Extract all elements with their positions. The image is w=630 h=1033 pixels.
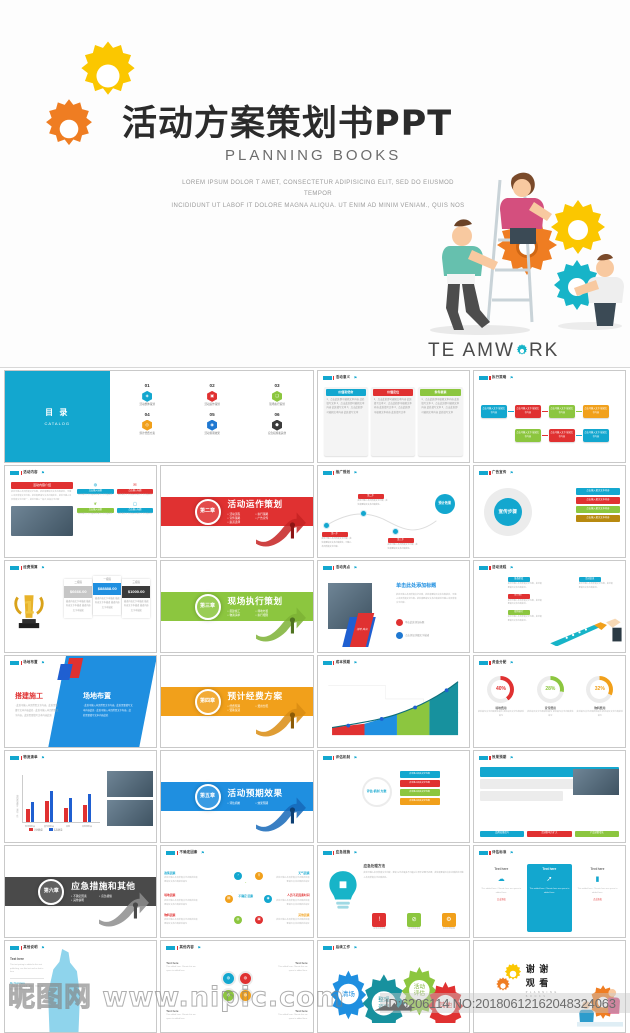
chapter-bullet: 效果预期 — [256, 802, 284, 806]
header-bar-red — [489, 756, 490, 760]
gear-icon-orange — [38, 98, 100, 160]
eval-card-featured[interactable]: Text here ➚ This added here. Climate her… — [527, 864, 572, 932]
chapter-bullets: 活动流程 执行策略 宣传策略 广告宣传 渠道选择 — [228, 513, 284, 525]
slide-photo-top — [107, 771, 153, 797]
thumbnail-slide-chapter-3[interactable]: 第三章 现场执行策划 搭建施工 场地布置 物资清单 执行细则 — [160, 560, 313, 653]
eval-card-title: Text here — [527, 867, 572, 872]
thanks-line-1: 谢 谢 — [526, 963, 557, 977]
eval-box[interactable]: 点击输入相关文字内容 — [400, 780, 440, 787]
teamwork-wordmark: TE AMWRK — [428, 340, 559, 362]
bullet-label: 单击此处添加标题 — [405, 621, 424, 625]
bookmark-icon: ⚑ — [510, 565, 514, 571]
star-label-body: 此处可输入本页所需文字内容此处需要填写文本内容此处填写 — [276, 877, 309, 883]
slide-thumbnail-grid: 目 录 CATALOG 01 ◈ 活动整体策划 02 ▣ 活动运作策划 03 ❏… — [0, 368, 630, 1033]
flow-list-caption: 活动结束 — [579, 577, 601, 582]
header-bar-red — [333, 661, 334, 665]
flow-box[interactable]: 点击可输入文字 描述文字内容 — [583, 429, 609, 442]
bookmark-icon: ⚑ — [354, 375, 358, 381]
thumbnail-slide-catalog[interactable]: 目 录 CATALOG 01 ◈ 活动整体策划 02 ▣ 活动运作策划 03 ❏… — [4, 370, 314, 463]
donut-sublabel: 此处填写文字内容此处填写 此处填写文字内容此处填写 — [577, 711, 623, 719]
timeline-caption: 第二步 — [358, 494, 384, 499]
header-bar-blue — [323, 566, 332, 570]
header-bar-red — [21, 661, 22, 665]
timeline-dot[interactable] — [392, 528, 399, 535]
thumbnail-slide-activity-flow[interactable]: 活动流程 ⚑ 准备阶段 此处可输入本页所需文字内容，此处需要填写文本内容此处。 … — [473, 560, 626, 653]
chapter-bullet: 其他说明 — [71, 899, 99, 903]
cube-icon: ◈ — [142, 391, 152, 402]
chapter-number-circle: 第二章 — [195, 499, 221, 525]
construction-title-left: 搭建施工 — [15, 692, 43, 703]
eval-box[interactable]: 点击输入相关文字内容 — [400, 798, 440, 805]
catalog-item-number: 02 — [181, 383, 244, 390]
emergency-title: 应急处理方法 — [364, 864, 465, 869]
header-bar-blue — [323, 756, 332, 760]
bar-list-item[interactable]: 点击输入相关文本内容 — [576, 488, 620, 495]
chapter-bullets: 不确定因素 应急措施 其他说明 — [71, 895, 127, 903]
slide-header-title: 后续工作 — [336, 945, 350, 950]
eval-card-row: Text here ☁ This added here. Climate her… — [479, 864, 620, 932]
flow-box[interactable]: 点击可输入文字 描述文字内容 — [549, 405, 575, 418]
slide-header: 资金分配 ⚑ — [479, 660, 514, 666]
header-bar-red — [333, 471, 334, 475]
header-bar-blue — [323, 471, 332, 475]
flow-arrow — [576, 435, 582, 436]
circle-body: This added here. Climate this me space t… — [166, 1014, 195, 1020]
slide-bullet[interactable]: 点击添加详细文字描述 — [396, 632, 429, 639]
slide-header: 经费预算 ⚑ — [10, 565, 45, 571]
card-body: 1、点击此处即可编辑文本内容 此处填写文本 2、点击此处即可编辑文本内容 此处填… — [326, 398, 366, 414]
slide-header-title: 评估机制 — [336, 755, 350, 760]
catalog-item-label: 活动整体策划 — [116, 403, 179, 407]
circular-steps-center: 宣传步骤 — [494, 498, 522, 526]
effect-bar-3 — [480, 791, 564, 801]
leaf-icon: ❏ — [272, 391, 282, 402]
bar-planned — [83, 805, 87, 822]
card-caption: 价值定位 — [373, 389, 413, 396]
chapter-divider: 第四章 预计经费方案 经费预算 费用分配 赞助渠道 — [161, 656, 312, 747]
eval-card[interactable]: Text here ▮ This added here. Climate her… — [575, 864, 620, 932]
slide-header: 应急措施 ⚑ — [323, 850, 358, 856]
slide-header: 评估机制 ⚑ — [323, 755, 358, 761]
slide-header: 活动亮点 ⚑ — [323, 565, 358, 571]
bookmark-icon: ⚑ — [354, 470, 358, 476]
slide-header: 后续工作 ⚑ — [323, 945, 358, 951]
clock-icon[interactable]: ◔ — [234, 872, 242, 880]
star-center-label: 不确定 因素 — [238, 895, 253, 899]
trophy-illustration: 1 — [12, 587, 46, 633]
catalog-item-label: 预计经费方案 — [116, 432, 179, 436]
cloud-icon: ☁ — [479, 875, 524, 886]
chart-x-axis — [22, 822, 100, 823]
bullet-dot-blue — [396, 632, 403, 639]
timeline-dot[interactable] — [360, 510, 367, 517]
chapter-number: 第四章 — [200, 698, 215, 706]
bar-planned — [64, 808, 68, 822]
price-body: 描述内容文字本描述 描述内容文字本描述 描述内容文字本描述 — [64, 598, 92, 615]
thumbnail-slide-ad-promotion[interactable]: 广告宣传 ⚑ 宣传步骤 点击输入相关文本内容 点击输入相关文本内容 点击输入相关… — [473, 465, 626, 558]
thumbnail-slide-eval-standard[interactable]: 评估标准 ⚑ Text here ☁ This added here. Clim… — [473, 845, 626, 938]
thumbnail-slide-promotion-plan[interactable]: 推广规划 ⚑ 第一步 此处可输入本页所需文字内容，此处需要填写文本内容此处，可输… — [317, 465, 470, 558]
slide-header: 不确定因素 ⚑ — [166, 850, 204, 856]
bookmark-icon: ⚑ — [41, 945, 45, 951]
price-column-featured[interactable]: 一级版 $88888.00 描述内容文字本描述 描述内容文字本描述 描述内容文字… — [93, 576, 121, 615]
slide-header-title: 效果预期 — [492, 755, 506, 760]
pin-icon[interactable]: ⚲ — [255, 872, 263, 880]
flow-list-body: 此处可输入本页所需文字内容，此处需要填写文本内容此处。 — [508, 616, 542, 624]
flow-list-body: 此处可输入本页所需文字内容，此处需要填写文本内容此处。 — [579, 583, 613, 591]
star-label-body: 此处可输入本页所需文字内容此处需要填写文本内容此处填写 — [164, 877, 197, 883]
slide-header: 效果预期 ⚑ — [479, 755, 514, 761]
star-center: 不确定 因素 — [231, 882, 261, 912]
bar-list-item[interactable]: 点击输入相关文本内容 — [576, 506, 620, 513]
chapter-text: 现场执行策划 搭建施工 场地布置 物资清单 执行细则 — [228, 595, 284, 618]
donut-chart: 28% 宣传费用 此处填写文字内容此处填写 此处填写文字内容此处填写 — [527, 676, 573, 719]
price-tier: 三级版 — [122, 579, 150, 586]
slide-header: 其他说明 ⚑ — [10, 945, 45, 951]
emergency-icon-card[interactable]: ⊘ 应急预案措施 — [398, 913, 430, 931]
slide-header-title: 其他内容 — [180, 945, 194, 950]
star-label-right-2: 人员不足因素时间 此处可输入本页所需文字内容此处需要填写文本内容此处填写 — [276, 893, 310, 907]
user-icon[interactable]: ◍ — [234, 916, 242, 924]
bar-list: 点击输入相关文本内容 点击输入相关文本内容 点击输入相关文本内容 点击输入相关文… — [576, 488, 620, 522]
star-label-title: 天气因素 — [276, 871, 310, 876]
chapter-divider: 第二章 活动运作策划 活动流程 执行策略 宣传策略 广告宣传 渠道选择 — [161, 466, 312, 557]
eval-box[interactable]: 点击输入相关文字内容 — [400, 771, 440, 778]
bookmark-icon: ⚑ — [510, 755, 514, 761]
chapter-title: 活动运作策划 — [228, 498, 284, 511]
slide-header-title: 不确定因素 — [180, 850, 198, 855]
header-bar-blue — [10, 471, 19, 475]
globe-icon[interactable]: ◉ — [264, 895, 272, 903]
header-bar-blue — [323, 661, 332, 665]
donut-label: 宣传费用 — [527, 706, 573, 710]
flow-list-caption: 宣传推广 — [508, 594, 530, 599]
flow-list-right: 活动结束 此处可输入本页所需文字内容，此处需要填写文本内容此处。 — [579, 577, 613, 594]
donut-percent: 40% — [496, 686, 506, 694]
chapter-bullet: 应急措施 — [99, 895, 127, 899]
thumbnail-slide-activity-meaning[interactable]: 活动意义 ⚑ 价值和使命 1、点击此处即可编辑文本内容 此处填写文本 2、点击此… — [317, 370, 470, 463]
timeline-dot[interactable] — [323, 522, 330, 529]
thumbnail-slide-uncertain-factors[interactable]: 不确定因素 ⚑ 不确定 因素 ◔ ⚲ ▤ ◉ ◍ ▣ 政策因素 此处可输入本页所… — [160, 845, 313, 938]
thumbnail-slide-emergency[interactable]: 应急措施 ⚑ 应急处理方法 此处可输入本页所需文字内容，建议70字内最多不可超过… — [317, 845, 470, 938]
flow-box[interactable]: 点击可输入文字 描述文字内容 — [515, 429, 541, 442]
bar-list-item[interactable]: 点击输入相关文本内容 — [576, 515, 620, 522]
chapter-text: 预计经费方案 经费预算 费用分配 赞助渠道 — [228, 690, 284, 713]
chapter-text: 活动运作策划 活动流程 执行策略 宣传策略 广告宣传 渠道选择 — [228, 498, 284, 525]
teamwork-label-post: RK — [529, 340, 559, 361]
flow-arrow — [542, 435, 548, 436]
content-photo — [11, 506, 73, 536]
eval-box-list: 点击输入相关文字内容 点击输入相关文字内容 点击输入相关文字内容 点击输入相关文… — [400, 771, 440, 805]
emergency-icon-label: 应急处理措施 — [433, 928, 465, 931]
emergency-icon-card[interactable]: ! 应急处理措施 — [364, 913, 396, 931]
user-icon: ◍ — [77, 482, 114, 488]
chapter-text: 应急措施和其他 不确定因素 应急措施 其他说明 — [71, 880, 135, 903]
chart-legend: 计划数量 实际数量 — [29, 828, 63, 833]
eval-card[interactable]: Text here ☁ This added here. Climate her… — [479, 864, 524, 932]
bookmark-icon: ⚑ — [197, 945, 201, 951]
timeline-body: 此处可输入本页所需文字内容，此处需要填写文本内容此处，可输入本页所需文字内容。 — [322, 538, 352, 549]
chapter-title: 应急措施和其他 — [71, 880, 135, 893]
slide-header: 成本预期 ⚑ — [323, 660, 358, 666]
teamwork-illustration — [400, 140, 630, 340]
chapter-divider: 第三章 现场执行策划 搭建施工 场地布置 物资清单 执行细则 — [161, 561, 312, 652]
thumbnail-slide-funding[interactable]: 经费预算 ⚑ 1 二级版 $6666.00 描述内容文字本描述 描述内容文字本描… — [4, 560, 157, 653]
coin-icon: ◎ — [142, 420, 152, 431]
bookmark-icon: ⚑ — [41, 565, 45, 571]
donut-ring: 28% — [537, 676, 564, 703]
bar-planned — [26, 809, 30, 822]
header-bar-blue — [479, 566, 488, 570]
slide-header-title: 其他说明 — [23, 945, 37, 950]
emergency-icon-card[interactable]: ⚙ 应急处理措施 — [433, 913, 465, 931]
thumbnail-slide-chapter-5[interactable]: 第五章 活动预期效果 评估机制 效果预期 — [160, 750, 313, 843]
header-bar-red — [21, 566, 22, 570]
donut-center: 32% — [590, 680, 609, 699]
bar-list-item[interactable]: 点击输入相关文本内容 — [576, 497, 620, 504]
emergency-body: 此处可输入本页所需文字内容，建议70字内最多不可超过上限不必删不必要，此处需要填… — [364, 871, 465, 879]
thumbnail-slide-eval-mechanism[interactable]: 评估机制 ⚑ 评估 机制 方案 点击输入相关文字内容 点击输入相关文字内容 点击… — [317, 750, 470, 843]
eval-box[interactable]: 点击输入相关文字内容 — [400, 789, 440, 796]
header-bar-blue — [10, 661, 19, 665]
price-column[interactable]: 三级版 $1000.00 描述内容文字本描述 描述内容文字本描述 描述内容文字本… — [122, 579, 150, 618]
content-item[interactable]: ◍ 点击输入标题 此处填写文字内容此处填写文字内容此处 — [77, 482, 114, 498]
donut-chart: 32% 物料费用 此处填写文字内容此处填写 此处填写文字内容此处填写 — [577, 676, 623, 719]
bar-planned — [45, 801, 49, 822]
chapter-number: 第六章 — [44, 888, 59, 896]
donut-percent: 32% — [595, 686, 605, 694]
header-bar-blue — [479, 471, 488, 475]
circle-text-left-top: Text here This added here. Climate this … — [166, 961, 198, 974]
eval-card-more[interactable]: 点击添加 — [479, 899, 524, 902]
chapter-bullets: 评估机制 效果预期 — [228, 802, 284, 806]
eval-card-body: This added here. Climate here me space t… — [527, 888, 572, 896]
chapter-number-circle: 第三章 — [195, 594, 221, 620]
thumbnail-slide-chapter-6[interactable]: 第六章 应急措施和其他 不确定因素 应急措施 其他说明 — [4, 845, 157, 938]
slide-header: 活动流程 ⚑ — [479, 565, 514, 571]
chapter-title: 预计经费方案 — [228, 690, 284, 703]
rocket-icon: ➚ — [527, 875, 572, 886]
circle-body: This added here. Climate this me space t… — [278, 966, 307, 972]
star-diagram: 不确定 因素 ◔ ⚲ ▤ ◉ ◍ ▣ 政策因素 此处可输入本页所需文字内容此处需… — [161, 862, 312, 933]
materials-bar-chart: 物料数量统计（单位：件） 现场物料品 宣传物料品 其他 其他物料品 — [13, 771, 101, 833]
star-label-right-3: 其他因素 此处可输入本页所需文字内容此处需要填写文本内容此处填写 — [276, 913, 310, 927]
chat-icon: ▣ — [207, 391, 217, 402]
bookmark-icon: ⚑ — [510, 470, 514, 476]
timeline-body: 此处可输入本页所需文字内容，此处需要填写文本内容此处。 — [358, 500, 388, 508]
catalog-item-number: 01 — [116, 383, 179, 390]
thumbnail-slide-expected-effect[interactable]: 效果预期 ⚑ 品牌效果提升 活动影响力扩大 产品销量增长 — [473, 750, 626, 843]
slide-header: 场地布置 ⚑ — [10, 660, 45, 666]
flow-diagram: 点击可输入文字 描述文字内容 点击可输入文字 描述文字内容 点击可输入文字 描述… — [479, 389, 620, 456]
star-label-left-2: 场地因素 此处可输入本页所需文字内容此处需要填写文本内容此处填写 — [164, 893, 198, 907]
header-bar-red — [21, 946, 22, 950]
flow-arrow — [508, 411, 514, 412]
flow-box[interactable]: 点击可输入文字 描述文字内容 — [515, 405, 541, 418]
donut-chart-row: 40% 场地费用 此处填写文字内容此处填写 此处填写文字内容此处填写 28% 宣… — [478, 676, 623, 719]
header-bar-red — [333, 756, 334, 760]
catalog-item[interactable]: 05 ◉ 活动预期效果 — [181, 412, 244, 436]
slide-header: 评估标准 ⚑ — [479, 850, 514, 856]
thumbnail-slide-thanks[interactable]: 谢 谢 观 看 P L A N N I N G B O O K S — [473, 940, 626, 1033]
thumbnail-slide-execution-flow[interactable]: 执行策略 ⚑ 点击可输入文字 描述文字内容 点击可输入文字 描述文字内容 点击可… — [473, 370, 626, 463]
construction-title-right: 场地布置 — [83, 692, 111, 703]
catalog-item[interactable]: 03 ❏ 现场执行策划 — [246, 383, 309, 407]
thumbnail-slide-add-title[interactable]: 活动亮点 ⚑ 活动 亮点 单击此处添加标题 此处可输入本页所需文字内容，此处需要… — [317, 560, 470, 653]
star-label-left-3: 物料因素 此处可输入本页所需文字内容此处需要填写文本内容此处填写 — [164, 913, 198, 927]
price-column[interactable]: 二级版 $6666.00 描述内容文字本描述 描述内容文字本描述 描述内容文字本… — [64, 579, 92, 618]
watermark-nipic: 昵图网 www.nipic.com — [8, 975, 345, 1014]
chapter-bullet: 广告宣传 — [256, 517, 284, 521]
chapter-title: 活动预期效果 — [228, 787, 284, 800]
construction-body-right: · 此处可输入本页所需文字内容，此处需要填写文本内容此处 · 此处可输入本页所需… — [83, 704, 133, 718]
star-label-title: 人员不足因素时间 — [276, 893, 310, 898]
content-card[interactable]: 价值和使命 1、点击此处即可编辑文本内容 此处填写文本 2、点击此处即可编辑文本… — [324, 387, 368, 456]
bar-group — [26, 802, 34, 822]
chat-icon[interactable]: ▣ — [255, 916, 263, 924]
chapter-divider: 第六章 应急措施和其他 不确定因素 应急措施 其他说明 — [5, 846, 156, 937]
catalog-item-label: 应急措施和其他 — [246, 432, 309, 436]
content-item[interactable]: ✉ 点击输入标题 此处填写文字内容此处填写文字内容此处 — [117, 482, 154, 498]
flow-list: 准备阶段 此处可输入本页所需文字内容，此处需要填写文本内容此处。 宣传推广 此处… — [508, 577, 542, 627]
donut-percent: 28% — [545, 686, 555, 694]
alert-icon: ! — [372, 913, 386, 927]
doc-icon[interactable]: ▤ — [225, 895, 233, 903]
price-value: $6666.00 — [64, 586, 92, 598]
thumbnail-slide-materials[interactable]: 物流清单 ⚑ 物料数量统计（单位：件） 现场物料品 宣传物料品 其他 — [4, 750, 157, 843]
chart-y-axis — [22, 775, 23, 823]
bar-group — [45, 791, 53, 822]
catalog-item[interactable]: 02 ▣ 活动运作策划 — [181, 383, 244, 407]
thumbnail-slide-chapter-2[interactable]: 第二章 活动运作策划 活动流程 执行策略 宣传策略 广告宣传 渠道选择 — [160, 465, 313, 558]
catalog-item[interactable]: 04 ◎ 预计经费方案 — [116, 412, 179, 436]
thumbnail-slide-distribution[interactable]: 资金分配 ⚑ 40% 场地费用 此处填写文字内容此处填写 此处填写文字内容此处填… — [473, 655, 626, 748]
teamwork-label-pre: TE AMW — [428, 340, 515, 361]
pen-illustration — [547, 614, 623, 646]
effect-card-caption: 活动影响力扩大 — [527, 831, 571, 837]
flow-box[interactable]: 点击可输入文字 描述文字内容 — [481, 405, 507, 418]
effect-card[interactable]: 产品销量增长 — [575, 831, 619, 837]
catalog-items: 01 ◈ 活动整体策划 02 ▣ 活动运作策划 03 ❏ 现场执行策划 04 ◎… — [116, 383, 309, 436]
price-tier: 二级版 — [64, 579, 92, 586]
slide-header-title: 活动亮点 — [336, 565, 350, 570]
bookmark-icon: ⚑ — [354, 660, 358, 666]
content-item-body: 此处填写文字内容此处填写文字内容此处 — [117, 494, 154, 497]
catalog-item[interactable]: 01 ◈ 活动整体策划 — [116, 383, 179, 407]
slide-header-title: 成本预期 — [336, 660, 350, 665]
flow-box[interactable]: 点击可输入文字 描述文字内容 — [549, 429, 575, 442]
content-card[interactable]: 价值定位 1、点击此处即可编辑文本内容 此处填写文本 2、点击此处即可编辑文本内… — [371, 387, 415, 456]
target-icon: ◉ — [207, 420, 217, 431]
growth-chart-svg — [324, 676, 463, 739]
bar-actual — [50, 791, 54, 822]
thumbnail-slide-chapter-4[interactable]: 第四章 预计经费方案 经费预算 费用分配 赞助渠道 — [160, 655, 313, 748]
header-bar-blue — [479, 661, 488, 665]
slide-header: 活动意义 ⚑ — [323, 375, 358, 381]
flow-box[interactable]: 点击可输入文字 描述文字内容 — [583, 405, 609, 418]
header-bar-blue — [479, 756, 488, 760]
donut-label: 物料费用 — [577, 706, 623, 710]
donut-sublabel: 此处填写文字内容此处填写 此处填写文字内容此处填写 — [527, 711, 573, 719]
thumbnail-slide-construction[interactable]: 场地布置 ⚑ 搭建施工 · 此处可输入本页所需文字内容，此处需要填写文本内容此处… — [4, 655, 157, 748]
page-subtitle: PLANNING BOOKS — [225, 147, 401, 164]
slide-body: 此处可输入本页所需文字内容，此处需要填写文本内容此处，可输入本页所需文字内容。此… — [396, 593, 458, 606]
chapter-bullet: 赞助渠道 — [228, 709, 256, 713]
catalog-item[interactable]: 06 ⬟ 应急措施和其他 — [246, 412, 309, 436]
bullet-dot-red — [396, 619, 403, 626]
eval-card-body: This added here. Climate here me space t… — [479, 888, 524, 896]
slide-header-title: 经费预算 — [23, 565, 37, 570]
thumbnail-slide-growth[interactable]: 成本预期 ⚑ — [317, 655, 470, 748]
card-row: 价值和使命 1、点击此处即可编辑文本内容 此处填写文本 2、点击此处即可编辑文本… — [324, 387, 463, 456]
timeline-diagram: 第一步 此处可输入本页所需文字内容，此处需要填写文本内容此处，可输入本页所需文字… — [318, 484, 469, 553]
star-label-body: 此处可输入本页所需文字内容此处需要填写文本内容此处填写 — [276, 919, 309, 925]
price-value: $88888.00 — [93, 583, 121, 595]
chapter-divider: 第五章 活动预期效果 评估机制 效果预期 — [161, 751, 312, 842]
bookmark-icon: ⚑ — [510, 850, 514, 856]
circle-body: This added here. Climate this me space t… — [166, 966, 195, 972]
price-body: 描述内容文字本描述 描述内容文字本描述 描述内容文字本描述 — [93, 595, 121, 612]
svg-text:活动: 活动 — [413, 982, 425, 990]
header-bar-red — [489, 376, 490, 380]
eval-card-more[interactable]: 点击添加 — [575, 899, 620, 902]
bookmark-icon: ⚑ — [510, 660, 514, 666]
header-bar-blue — [10, 946, 19, 950]
circle-body: This added here. Climate this me space t… — [278, 1014, 307, 1020]
chapter-bullet: 费用分配 — [256, 705, 284, 709]
bar-group — [64, 798, 72, 822]
watermark-id-text: ID:6206114 NO:20180612162048324063 — [385, 996, 616, 1011]
header-bar-blue — [323, 946, 332, 950]
effect-card[interactable]: 品牌效果提升 — [480, 831, 524, 837]
content-body: 此处可输入本页所需文字内容，此处需要填写文本内容此处，可输入本页所需文字内容。此… — [11, 491, 73, 503]
slide-header: 其他内容 ⚑ — [166, 945, 201, 951]
slide-header: 物流清单 ⚑ — [10, 755, 45, 761]
effect-card-caption: 品牌效果提升 — [480, 831, 524, 837]
hero-cover-slide: 活动方案策划书PPT PLANNING BOOKS LOREM IPSUM DO… — [0, 0, 630, 368]
timeline-body: 此处可输入本页所需文字内容，此处需要填写文本内容此处。 — [388, 544, 418, 552]
bookmark-icon: ⚑ — [354, 565, 358, 571]
donut-sublabel: 此处填写文字内容此处填写 此处填写文字内容此处填写 — [478, 711, 524, 719]
star-label-left-1: 政策因素 此处可输入本页所需文字内容此处需要填写文本内容此处填写 — [164, 871, 198, 885]
svg-text:1: 1 — [23, 598, 35, 618]
slide-header-title: 活动意义 — [336, 375, 350, 380]
flow-arrow — [542, 411, 548, 412]
header-bar-blue — [166, 851, 175, 855]
content-item[interactable]: ◯ 点击输入标题 此处填写文字内容此处填写文字内容此处 — [117, 501, 154, 517]
page-title: 活动方案策划书PPT — [122, 95, 452, 146]
chapter-number-circle: 第六章 — [38, 879, 64, 905]
flow-list-body: 此处可输入本页所需文字内容，此处需要填写文本内容此处。 — [508, 583, 542, 591]
bar-actual — [31, 802, 35, 822]
slide-bullet[interactable]: 单击此处添加标题 — [396, 619, 424, 626]
content-item[interactable]: ❦ 点击输入标题 此处填写文字内容此处填写文字内容此处 — [77, 501, 114, 517]
content-item-body: 此处填写文字内容此处填写文字内容此处 — [117, 513, 154, 516]
content-card[interactable]: 条件要素 1、点击此处即可编辑文本内容 此处填写文本 2、点击此处即可编辑文本内… — [418, 387, 462, 456]
chapter-bullets: 搭建施工 场地布置 物资清单 执行细则 — [228, 610, 284, 618]
bookmark-icon: ⚑ — [354, 755, 358, 761]
effect-card[interactable]: 活动影响力扩大 — [527, 831, 571, 837]
slide-photo — [573, 769, 619, 795]
thumbnail-slide-activity-content[interactable]: 活动内容 ⚑ 活动内容介绍 此处可输入本页所需文字内容，此处需要填写文本内容此处… — [4, 465, 157, 558]
catalog-item-number: 04 — [116, 412, 179, 419]
chapter-number-circle: 第五章 — [195, 784, 221, 810]
emergency-icon-row: ! 应急处理措施 ⊘ 应急预案措施 ⚙ 应急处理措施 — [364, 913, 465, 931]
catalog-title-en: CATALOG — [45, 421, 71, 427]
slide-header: 活动内容 ⚑ — [10, 470, 45, 476]
header-bar-blue — [166, 946, 175, 950]
effect-card-row: 品牌效果提升 活动影响力扩大 产品销量增长 — [480, 831, 619, 837]
